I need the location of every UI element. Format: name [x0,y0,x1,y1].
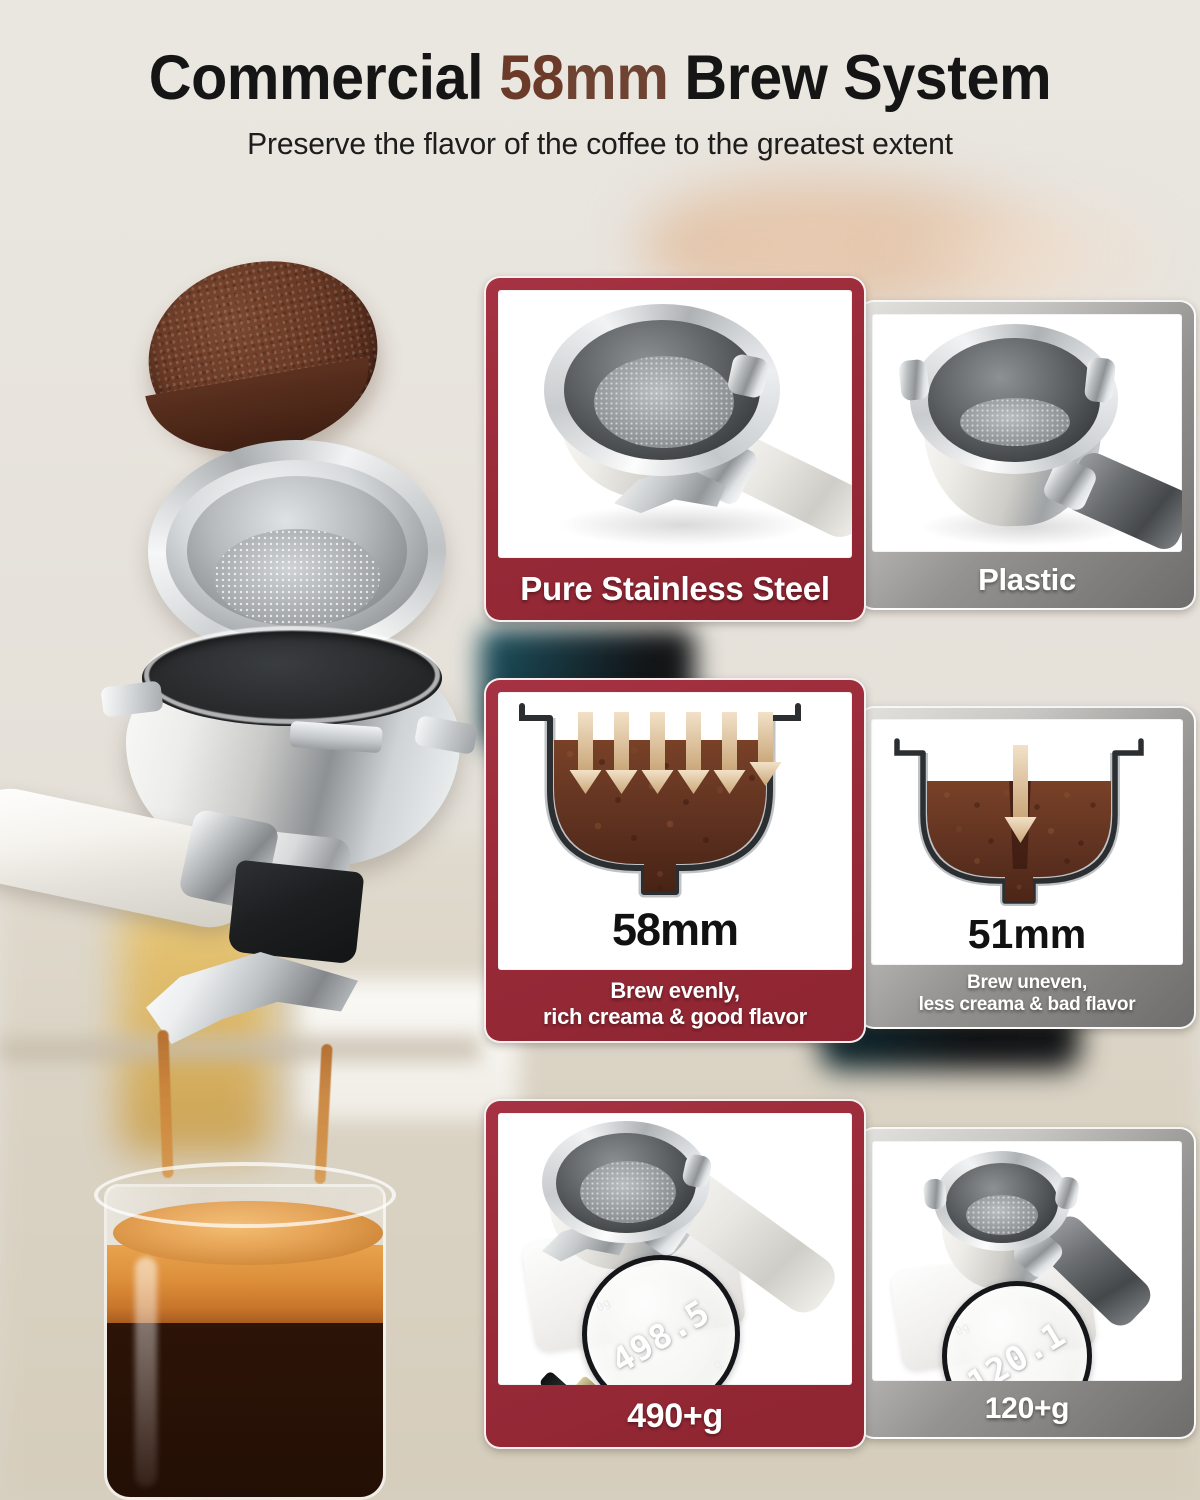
hero-product-image [0,0,500,1500]
caption-weight-490g: 490+g [498,1385,852,1447]
glass-rim [94,1162,396,1228]
portafilter-rim-highlight [144,626,440,724]
scale-reading-490: 498.5 [605,1292,718,1382]
glass-highlight [135,1257,157,1487]
group-head [228,860,365,965]
photo-heavy-portafilter-scale: 0g 498.5 g [498,1113,852,1385]
comparison-panels: Pure Stainless Steel Plastic [484,276,1200,1449]
scale-reading-120: 120.1 [961,1314,1074,1381]
panel-58mm-even-brew[interactable]: 58mm Brew evenly, rich creama & good fla… [484,678,866,1043]
caption-weight-120g: 120+g [872,1381,1182,1437]
caption-uneven-brew: Brew uneven, less creama & bad flavor [871,965,1183,1027]
even-extraction-svg [510,692,840,902]
title-accent-unit: mm [564,43,668,113]
title-accent-number: 58 [499,43,564,113]
scale-secondary-readout: 0g [953,1320,973,1339]
diagram-even-extraction: 58mm [498,692,852,970]
diagram-uneven-extraction: 51mm [871,719,1183,965]
espresso-glass [94,1162,396,1500]
espresso-stream-left [157,1030,173,1178]
header: Commercial 58mm Brew System Preserve the… [0,46,1200,162]
panel-weight-120g[interactable]: 0g 120.1 g 120+g [858,1127,1196,1439]
photo-plastic-portafilter [872,314,1182,552]
caption-uneven-brew-line1: Brew uneven, [877,972,1177,994]
caption-even-brew-line1: Brew evenly, [504,978,846,1004]
comparison-row-material: Pure Stainless Steel Plastic [484,276,1200,622]
caption-pure-stainless-steel: Pure Stainless Steel [498,558,852,620]
caption-plastic: Plastic [872,552,1182,608]
caption-uneven-brew-line2: less creama & bad flavor [877,994,1177,1016]
title-part-1: Commercial [149,43,499,113]
panel-plastic[interactable]: Plastic [858,300,1196,610]
panel-pure-stainless-steel[interactable]: Pure Stainless Steel [484,276,866,622]
scale-unit-120: g [1063,1376,1077,1381]
comparison-row-weight: 0g 498.5 g 490+g [484,1099,1200,1449]
glass-body [104,1184,386,1500]
basket-mesh-screen [214,529,381,627]
comparison-row-extraction: 58mm Brew evenly, rich creama & good fla… [484,678,1200,1043]
title-part-2: Brew System [668,43,1051,113]
caption-even-brew: Brew evenly, rich creama & good flavor [498,970,852,1041]
page-subtitle: Preserve the flavor of the coffee to the… [18,126,1182,162]
label-58mm: 58mm [612,904,738,956]
photo-stainless-portafilter [498,290,852,558]
scale-unit-490: g [711,1356,725,1373]
label-51mm: 51mm [968,911,1087,958]
panel-51mm-uneven-brew[interactable]: 51mm Brew uneven, less creama & bad flav… [858,706,1196,1029]
uneven-extraction-svg [881,719,1173,909]
double-spout [146,952,358,1048]
page-title: Commercial 58mm Brew System [36,46,1164,110]
scale-secondary-readout: 0g [593,1296,613,1315]
caption-even-brew-line2: rich creama & good flavor [504,1004,846,1030]
panel-weight-490g[interactable]: 0g 498.5 g 490+g [484,1099,866,1449]
photo-light-portafilter-scale: 0g 120.1 g [872,1141,1182,1381]
